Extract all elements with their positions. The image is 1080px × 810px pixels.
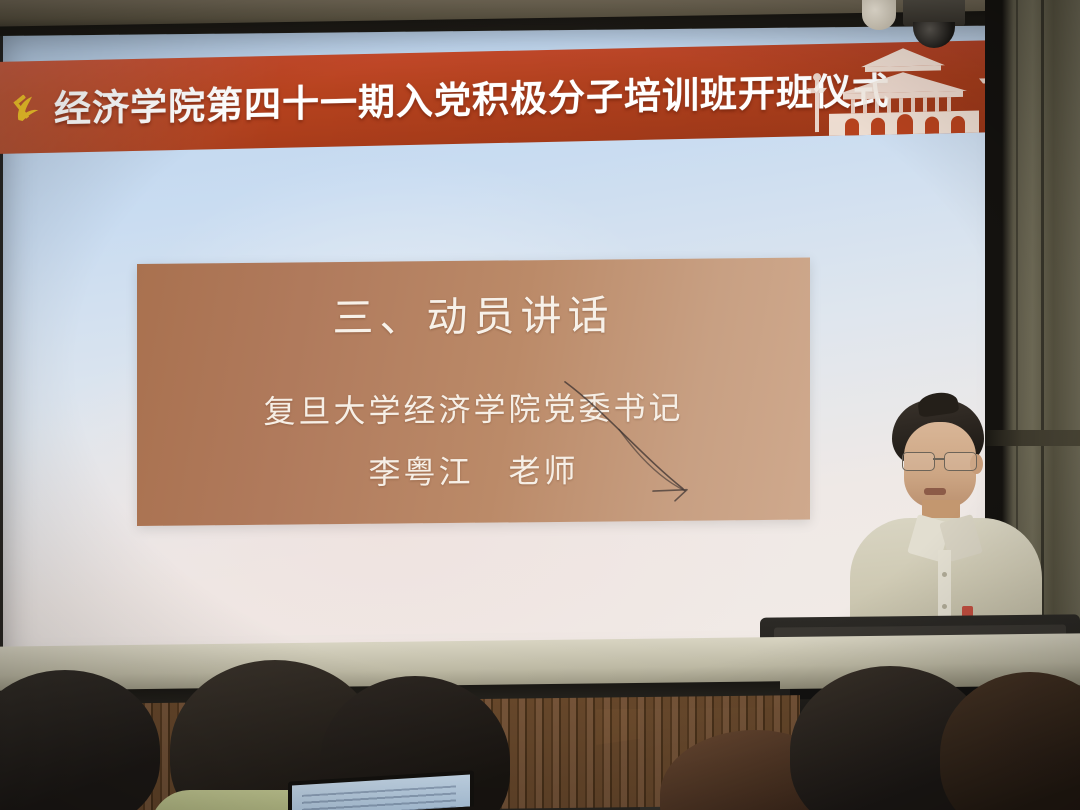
ceiling-speaker bbox=[862, 0, 896, 30]
laptop-screen-text-lines bbox=[302, 785, 456, 810]
glasses-icon bbox=[900, 452, 982, 469]
shirt-button bbox=[942, 604, 947, 609]
slide-subtitle: 复旦大学经济学院党委书记 bbox=[137, 382, 810, 434]
shirt-button bbox=[942, 572, 947, 577]
laptop-screen bbox=[292, 775, 470, 810]
presenter-mouth bbox=[924, 488, 946, 495]
slide-content-card: 三、动员讲话 复旦大学经济学院党委书记 李粤江 老师 bbox=[137, 258, 810, 526]
hammer-and-sickle-icon bbox=[10, 87, 52, 130]
tiananmen-gate-icon bbox=[795, 40, 1010, 141]
lecture-hall-scene: 经济学院第四十一期入党积极分子培训班开班仪式 bbox=[0, 0, 1080, 810]
slide-title: 三、动员讲话 bbox=[137, 280, 810, 346]
slide-speaker-name: 李粤江 老师 bbox=[137, 444, 810, 496]
